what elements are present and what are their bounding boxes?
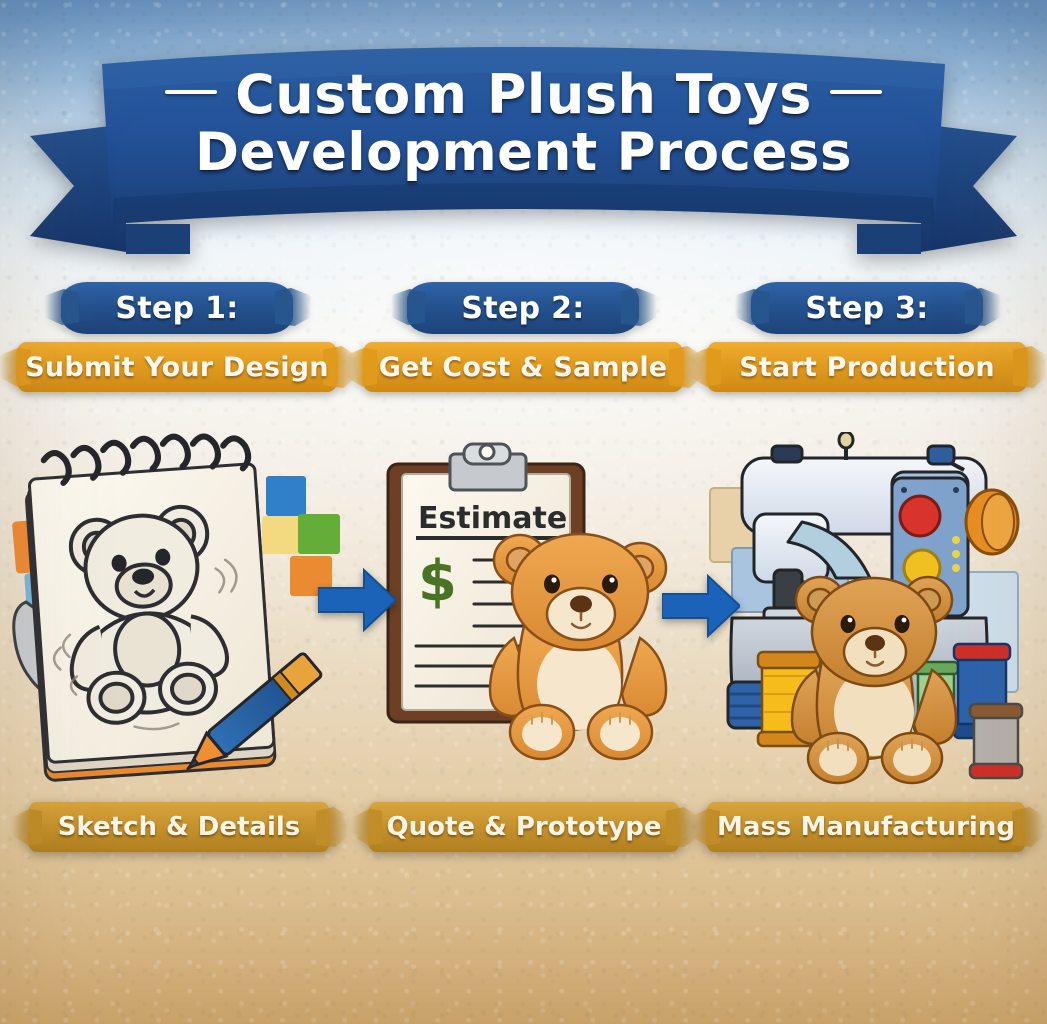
bear-eye-left <box>841 615 856 633</box>
step-3-headline: Start Production <box>739 352 995 383</box>
step-3-illustration <box>706 432 1040 798</box>
step-3-caption: Mass Manufacturing <box>717 812 1015 842</box>
step-1-badge: Step 1: <box>61 282 293 334</box>
step-3-label: Step 3: <box>805 291 928 326</box>
color-swatch-yellow <box>262 516 302 554</box>
step-2-caption-banner: Quote & Prototype <box>368 802 680 852</box>
dollar-sign-icon: $ <box>418 549 457 614</box>
teddy-bear-orange <box>490 534 666 759</box>
step-column-2: Step 2: Get Cost & Sample <box>358 282 688 392</box>
estimate-heading: Estimate <box>418 501 567 536</box>
bear-nose <box>865 635 885 651</box>
step-1-caption-banner: Sketch & Details <box>28 802 330 852</box>
step-1-headline: Submit Your Design <box>25 352 328 383</box>
step-1-label: Step 1: <box>115 291 238 326</box>
bear-eye-left <box>544 575 560 594</box>
step-2-caption: Quote & Prototype <box>387 812 662 842</box>
infographic-poster: Custom Plush Toys Development Process St… <box>0 0 1047 1024</box>
step-2-headline-banner: Get Cost & Sample <box>362 342 684 392</box>
step-1-caption: Sketch & Details <box>58 812 301 842</box>
step-2-badge: Step 2: <box>407 282 639 334</box>
step-column-3: Step 3: Start Production <box>702 282 1032 392</box>
step-3-caption-banner: Mass Manufacturing <box>706 802 1026 852</box>
step-2-headline: Get Cost & Sample <box>379 352 668 383</box>
thread-spool-grey <box>970 704 1022 778</box>
color-swatch-green <box>298 514 340 554</box>
clipboard-clip-icon <box>450 444 526 490</box>
bear-nose <box>570 596 592 613</box>
step-2-label: Step 2: <box>461 291 584 326</box>
step-1-headline-banner: Submit Your Design <box>16 342 338 392</box>
teddy-bear-brown <box>792 577 956 783</box>
title-banner: Custom Plush Toys Development Process <box>30 28 1017 256</box>
arrow-step1-to-step2 <box>318 566 396 634</box>
step-2-illustration: Estimate $ <box>368 432 686 798</box>
step-1-illustration <box>8 432 356 798</box>
machine-indicator-lights <box>952 536 960 572</box>
bear-eye-right <box>895 615 910 633</box>
step-column-1: Step 1: Submit Your Design <box>12 282 342 392</box>
step-3-badge: Step 3: <box>751 282 983 334</box>
arrow-step2-to-step3 <box>662 572 740 640</box>
bear-arm-right <box>622 638 666 716</box>
color-swatch-blue <box>266 476 306 516</box>
step-3-headline-banner: Start Production <box>706 342 1028 392</box>
machine-button-red <box>900 496 940 536</box>
bear-eye-right <box>602 575 618 594</box>
